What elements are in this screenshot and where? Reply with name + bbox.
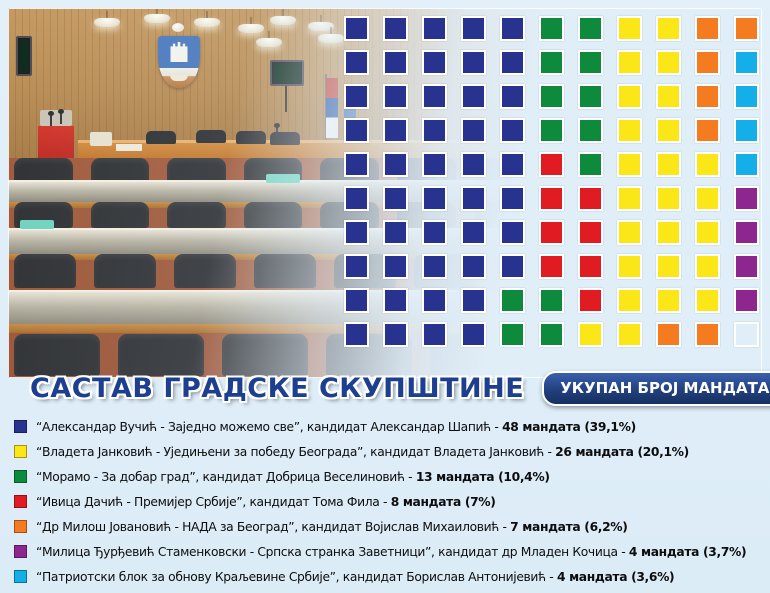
seat-square	[734, 254, 759, 279]
legend-party-and-candidate: “Владета Јанковић - Уједињени за победу …	[36, 445, 555, 459]
legend-label: “Владета Јанковић - Уједињени за победу …	[36, 445, 689, 459]
title-band: САСТАВ ГРАДСКЕ СКУПШТИНЕ УКУПАН БРОЈ МАН…	[0, 366, 770, 410]
seat-square	[422, 254, 447, 279]
legend-color-swatch	[14, 445, 27, 458]
seat-square	[695, 118, 720, 143]
seat-square	[461, 16, 486, 41]
legend-color-swatch	[14, 470, 27, 483]
page-title: САСТАВ ГРАДСКЕ СКУПШТИНЕ	[30, 373, 524, 404]
legend-seat-count: 8 мандата	[391, 495, 465, 509]
legend-percent: (39,1%)	[584, 420, 635, 434]
legend-percent: (10,4%)	[498, 470, 549, 484]
seat-square	[539, 50, 564, 75]
seat-square	[383, 84, 408, 109]
seat-square	[383, 322, 408, 347]
seat-square	[422, 50, 447, 75]
seat-square	[656, 118, 681, 143]
seat-square	[695, 84, 720, 109]
seat-square	[383, 152, 408, 177]
seat-square	[734, 322, 759, 347]
legend-color-swatch	[14, 520, 27, 533]
seat-square	[461, 254, 486, 279]
seat-square	[656, 84, 681, 109]
seat-square	[383, 186, 408, 211]
seat-square	[734, 16, 759, 41]
seat-square	[344, 50, 369, 75]
legend-row: “Владета Јанковић - Уједињени за победу …	[0, 439, 770, 464]
seat-square	[578, 186, 603, 211]
legend-seat-count: 4 мандата	[557, 570, 631, 584]
seat-square	[695, 152, 720, 177]
seat-square	[656, 288, 681, 313]
seat-square	[500, 118, 525, 143]
legend-percent: (3,7%)	[703, 545, 746, 559]
seat-square	[539, 220, 564, 245]
seat-square	[695, 186, 720, 211]
seat-square	[734, 84, 759, 109]
legend-party-and-candidate: “Александар Вучић - Заједно можемо све”,…	[36, 420, 502, 434]
legend-color-swatch	[14, 570, 27, 583]
seat-square	[656, 50, 681, 75]
legend-seat-count: 13 мандата	[416, 470, 498, 484]
seat-square	[539, 84, 564, 109]
seat-square	[422, 288, 447, 313]
seat-square	[617, 84, 642, 109]
seat-square	[617, 16, 642, 41]
legend-seat-count: 48 мандата	[502, 420, 584, 434]
seat-square	[695, 16, 720, 41]
seat-square	[695, 254, 720, 279]
seat-square	[695, 50, 720, 75]
legend-row: “Патриотски блок за обнову Краљевине Срб…	[0, 564, 770, 589]
seat-square	[539, 152, 564, 177]
legend-label: “Милица Ђурђевић Стаменковски - Српска с…	[36, 545, 746, 559]
seat-square	[734, 50, 759, 75]
seat-square	[461, 118, 486, 143]
seat-square	[695, 288, 720, 313]
seat-square	[461, 288, 486, 313]
seat-square	[383, 50, 408, 75]
legend-label: “Ивица Дачић - Премијер Србије”, кандида…	[36, 495, 496, 509]
seat-square	[539, 186, 564, 211]
seat-square	[656, 152, 681, 177]
seat-square	[461, 50, 486, 75]
seat-square	[344, 288, 369, 313]
seat-square	[656, 16, 681, 41]
seat-square	[617, 322, 642, 347]
seat-square	[539, 254, 564, 279]
legend-label: “Александар Вучић - Заједно можемо све”,…	[36, 420, 636, 434]
seat-square	[578, 118, 603, 143]
seat-square	[500, 220, 525, 245]
seat-square	[578, 254, 603, 279]
seat-square	[461, 186, 486, 211]
legend-color-swatch	[14, 495, 27, 508]
seat-square	[344, 118, 369, 143]
seat-square	[578, 84, 603, 109]
legend-row: “Ивица Дачић - Премијер Србије”, кандида…	[0, 489, 770, 514]
legend-percent: (6,2%)	[584, 520, 627, 534]
seat-square	[539, 322, 564, 347]
legend-color-swatch	[14, 420, 27, 433]
seat-square	[539, 118, 564, 143]
legend-row: “Др Милош Јовановић - НАДА за Београд”, …	[0, 514, 770, 539]
seat-square	[383, 16, 408, 41]
seat-square	[461, 220, 486, 245]
total-mandates-badge: УКУПАН БРОЈ МАНДАТА - 110	[542, 371, 770, 406]
seat-square	[344, 254, 369, 279]
seat-square	[383, 288, 408, 313]
seat-square	[734, 152, 759, 177]
legend-percent: (3,6%)	[631, 570, 674, 584]
seat-square	[617, 152, 642, 177]
seat-square	[656, 254, 681, 279]
legend-color-swatch	[14, 545, 27, 558]
legend-seat-count: 26 мандата	[555, 445, 637, 459]
seat-square	[383, 254, 408, 279]
seat-square	[578, 288, 603, 313]
seat-square	[461, 152, 486, 177]
seat-square	[422, 16, 447, 41]
legend-party-and-candidate: “Морамо - За добар град”, кандидат Добри…	[36, 470, 416, 484]
legend-label: “Патриотски блок за обнову Краљевине Срб…	[36, 570, 674, 584]
legend-party-and-candidate: “Др Милош Јовановић - НАДА за Београд”, …	[36, 520, 510, 534]
seat-square	[422, 84, 447, 109]
seat-square	[695, 220, 720, 245]
seat-square	[500, 322, 525, 347]
seat-square	[500, 50, 525, 75]
seat-square	[500, 16, 525, 41]
seat-square	[344, 84, 369, 109]
legend-row: “Милица Ђурђевић Стаменковски - Српска с…	[0, 539, 770, 564]
legend-row: “Морамо - За добар град”, кандидат Добри…	[0, 464, 770, 489]
seat-square	[344, 220, 369, 245]
seat-square	[500, 84, 525, 109]
legend: “Александар Вучић - Заједно можемо све”,…	[0, 414, 770, 589]
seat-square	[617, 288, 642, 313]
seat-square	[734, 186, 759, 211]
seat-square	[500, 186, 525, 211]
seat-square	[734, 118, 759, 143]
seat-square	[617, 220, 642, 245]
legend-seat-count: 7 мандата	[510, 520, 584, 534]
seat-square	[422, 220, 447, 245]
seat-square	[383, 118, 408, 143]
seat-square	[461, 84, 486, 109]
seat-square	[578, 16, 603, 41]
seat-square	[656, 322, 681, 347]
legend-party-and-candidate: “Ивица Дачић - Премијер Србије”, кандида…	[36, 495, 391, 509]
seat-square	[578, 322, 603, 347]
seat-square	[422, 322, 447, 347]
legend-label: “Др Милош Јовановић - НАДА за Београд”, …	[36, 520, 628, 534]
seat-square	[656, 186, 681, 211]
legend-percent: (7%)	[465, 495, 496, 509]
seat-square	[617, 186, 642, 211]
seat-square	[344, 152, 369, 177]
legend-row: “Александар Вучић - Заједно можемо све”,…	[0, 414, 770, 439]
legend-label: “Морамо - За добар град”, кандидат Добри…	[36, 470, 550, 484]
seat-square	[500, 152, 525, 177]
seat-square	[422, 186, 447, 211]
seat-square	[695, 322, 720, 347]
seat-square	[422, 118, 447, 143]
seat-square	[617, 118, 642, 143]
infographic-poster: САСТАВ ГРАДСКЕ СКУПШТИНЕ УКУПАН БРОЈ МАН…	[0, 0, 770, 593]
legend-percent: (20,1%)	[637, 445, 688, 459]
legend-party-and-candidate: “Патриотски блок за обнову Краљевине Срб…	[36, 570, 557, 584]
seat-square	[344, 322, 369, 347]
seat-square	[656, 220, 681, 245]
seat-square	[539, 16, 564, 41]
seat-square	[383, 220, 408, 245]
legend-seat-count: 4 мандата	[629, 545, 703, 559]
seat-square	[734, 220, 759, 245]
seat-square	[539, 288, 564, 313]
seat-square	[422, 152, 447, 177]
seat-square	[578, 220, 603, 245]
seat-square	[344, 16, 369, 41]
seat-square	[617, 50, 642, 75]
seat-square	[578, 152, 603, 177]
seat-square	[500, 254, 525, 279]
legend-party-and-candidate: “Милица Ђурђевић Стаменковски - Српска с…	[36, 545, 629, 559]
seat-square	[617, 254, 642, 279]
seat-square	[461, 322, 486, 347]
seat-square	[344, 186, 369, 211]
seat-square	[500, 288, 525, 313]
seat-allocation-grid	[344, 16, 770, 356]
seat-square	[734, 288, 759, 313]
seat-square	[578, 50, 603, 75]
